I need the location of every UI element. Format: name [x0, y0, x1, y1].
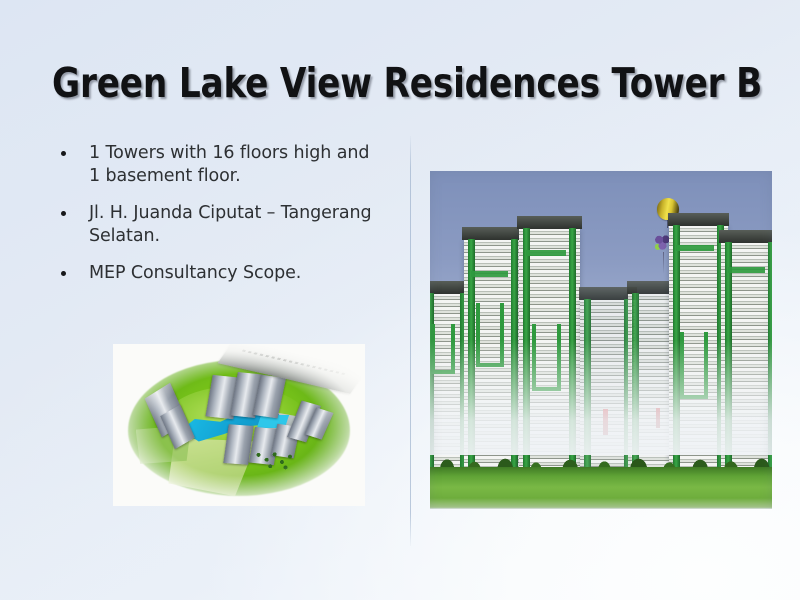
tower-green-band — [728, 267, 765, 273]
bullet-list: 1 Towers with 16 floors high and 1 basem… — [55, 142, 400, 299]
tower-green-band — [676, 245, 713, 251]
bullet-dot-icon — [61, 211, 66, 216]
bullet-dot-icon — [61, 151, 66, 156]
bullet-text: Jl. H. Juanda Ciputat – Tangerang Selata… — [89, 203, 372, 246]
presentation-slide: Green Lake View Residences Tower B 1 Tow… — [0, 0, 800, 600]
list-item: MEP Consultancy Scope. — [55, 262, 400, 285]
tower-exterior-render — [430, 171, 772, 509]
bullet-dot-icon — [61, 271, 66, 276]
bullet-text: 1 Towers with 16 floors high and 1 basem… — [89, 143, 369, 186]
tower-green-band — [526, 250, 565, 256]
page-title: Green Lake View Residences Tower B — [52, 58, 712, 108]
bullet-text: MEP Consultancy Scope. — [89, 263, 301, 283]
foreground-lawn — [430, 467, 772, 509]
list-item: Jl. H. Juanda Ciputat – Tangerang Selata… — [55, 202, 400, 248]
siteplan-edge-fade — [113, 344, 365, 506]
tower-green-band — [471, 271, 508, 277]
list-item: 1 Towers with 16 floors high and 1 basem… — [55, 142, 400, 188]
aerial-masterplan-render — [113, 344, 365, 506]
column-divider — [410, 136, 411, 546]
horizon-haze — [430, 340, 772, 455]
